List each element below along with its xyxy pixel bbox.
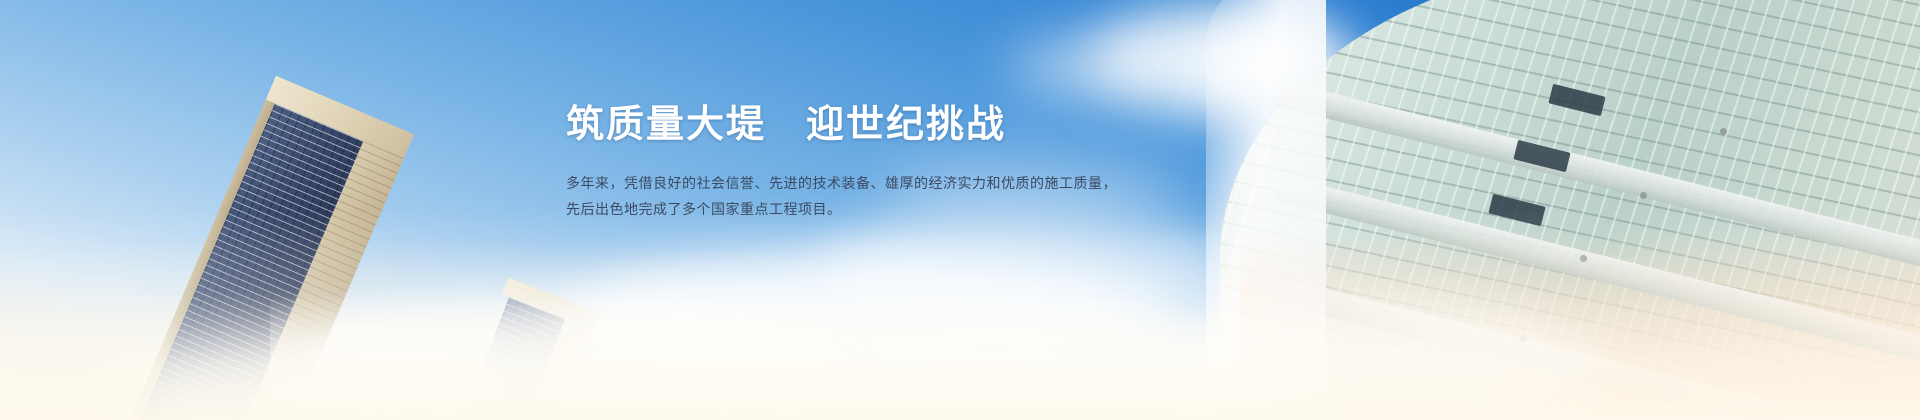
banner-subtitle: 多年来，凭借良好的社会信誉、先进的技术装备、雄厚的经济实力和优质的施工质量， 先… [566, 170, 1126, 222]
banner-copy: 筑质量大堤 迎世纪挑战 多年来，凭借良好的社会信誉、先进的技术装备、雄厚的经济实… [566, 104, 1126, 222]
facade-light [1640, 192, 1647, 199]
banner-subtitle-line-1: 多年来，凭借良好的社会信誉、先进的技术装备、雄厚的经济实力和优质的施工质量， [566, 170, 1126, 196]
horizon-haze [0, 210, 1920, 420]
cloud-shape [1010, 38, 1150, 98]
banner-headline: 筑质量大堤 迎世纪挑战 [566, 104, 1126, 148]
facade-light [1720, 128, 1727, 135]
hero-banner: 筑质量大堤 迎世纪挑战 多年来，凭借良好的社会信誉、先进的技术装备、雄厚的经济实… [0, 0, 1920, 420]
banner-subtitle-line-2: 先后出色地完成了多个国家重点工程项目。 [566, 196, 1126, 222]
